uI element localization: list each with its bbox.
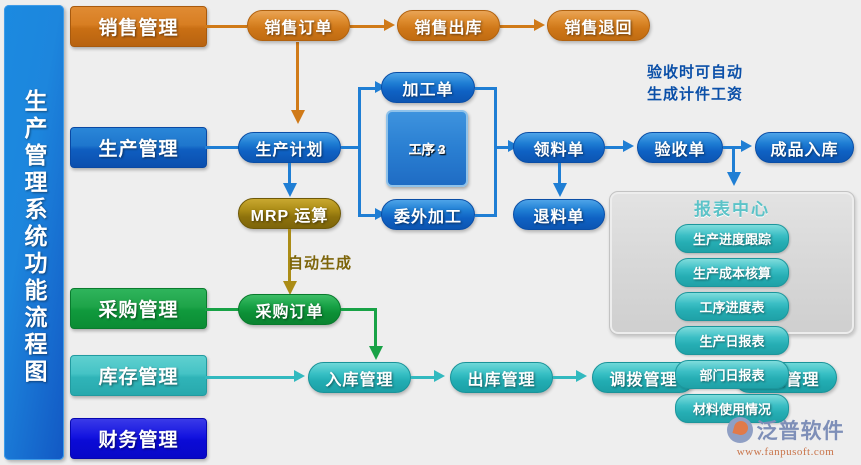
- node-mrp-calculation[interactable]: MRP 运算: [238, 198, 341, 229]
- report-button-production-daily[interactable]: 生产日报表: [675, 326, 789, 355]
- connector-branch-vertical-left: [358, 87, 361, 217]
- arrowhead-pick-to-acceptance: [623, 140, 634, 152]
- connector-outbound-to-return: [500, 25, 536, 28]
- arrowhead-purchase-order-to-inbound: [369, 346, 383, 360]
- arrowhead-stock-module-to-inbound: [294, 370, 305, 382]
- node-return-list[interactable]: 退料单: [513, 199, 605, 230]
- node-acceptance[interactable]: 验收单: [637, 132, 723, 163]
- connector-sales-module-to-order: [205, 25, 247, 28]
- annotation-acceptance-line2: 生成计件工资: [600, 84, 790, 106]
- connector-stock-module-to-inbound: [205, 376, 297, 379]
- flowchart-canvas: 生产管理系统功能流程图 销售管理 生产管理 采购管理 库存管理 财务管理 销售订…: [0, 0, 861, 465]
- diagram-title-bar: 生产管理系统功能流程图: [4, 5, 64, 460]
- connector-purchase-module-to-order: [205, 308, 240, 311]
- arrowhead-plan-to-mrp: [283, 183, 297, 197]
- process-list-box: 工序 1 工序 2 工序 3 ······: [386, 110, 468, 187]
- arrowhead-sales-order-to-plan: [291, 110, 305, 124]
- module-sales-management[interactable]: 销售管理: [70, 6, 207, 47]
- arrowhead-mrp-to-purchase-order: [283, 281, 297, 295]
- node-sales-return[interactable]: 销售退回: [547, 10, 650, 41]
- module-purchase-management[interactable]: 采购管理: [70, 288, 207, 329]
- arrowhead-acceptance-to-finished: [741, 140, 752, 152]
- report-center-title: 报表中心: [616, 196, 848, 224]
- logo-row: 泛普软件: [727, 415, 845, 445]
- node-work-order[interactable]: 加工单: [381, 72, 475, 103]
- process-line-more: ······: [412, 144, 442, 156]
- connector-purchase-order-right: [341, 308, 377, 311]
- node-sales-order[interactable]: 销售订单: [247, 10, 350, 41]
- company-url: www.fanpusoft.com: [737, 446, 835, 458]
- node-finished-goods[interactable]: 成品入库: [755, 132, 854, 163]
- report-button-process-progress[interactable]: 工序进度表: [675, 292, 789, 321]
- connector-prod-module-to-plan: [205, 146, 240, 149]
- report-button-department-daily[interactable]: 部门日报表: [675, 360, 789, 389]
- arrowhead-outbound-to-return: [534, 19, 545, 31]
- arrowhead-outbound-to-transfer: [576, 370, 587, 382]
- report-center-buttons: 生产进度跟踪 生产成本核算 工序进度表 生产日报表 部门日报表 材料使用情况: [616, 224, 848, 423]
- company-logo-icon: [727, 417, 753, 443]
- connector-merge-vertical-right: [494, 87, 497, 217]
- company-logo: 泛普软件 www.fanpusoft.com: [718, 415, 853, 460]
- label-auto-generate: 自动生成: [288, 252, 352, 273]
- arrowhead-inbound-to-outbound: [434, 370, 445, 382]
- annotation-acceptance: 验收时可自动 生成计件工资: [600, 62, 790, 106]
- module-inventory-management[interactable]: 库存管理: [70, 355, 207, 396]
- connector-order-to-outbound: [350, 25, 386, 28]
- report-button-production-cost[interactable]: 生产成本核算: [675, 258, 789, 287]
- node-outbound-management[interactable]: 出库管理: [450, 362, 553, 393]
- node-inbound-management[interactable]: 入库管理: [308, 362, 411, 393]
- module-production-management[interactable]: 生产管理: [70, 127, 207, 168]
- node-sales-outbound[interactable]: 销售出库: [397, 10, 500, 41]
- report-button-production-progress[interactable]: 生产进度跟踪: [675, 224, 789, 253]
- node-outsourcing[interactable]: 委外加工: [381, 199, 475, 230]
- node-production-plan[interactable]: 生产计划: [238, 132, 341, 163]
- arrowhead-order-to-outbound: [384, 19, 395, 31]
- connector-purchase-order-to-inbound: [374, 308, 377, 350]
- arrowhead-pick-to-return-list: [553, 183, 567, 197]
- annotation-acceptance-line1: 验收时可自动: [600, 62, 790, 84]
- arrowhead-acceptance-to-report: [727, 172, 741, 186]
- connector-sales-order-to-plan: [296, 42, 299, 118]
- node-purchase-order[interactable]: 采购订单: [238, 294, 341, 325]
- connector-inbound-to-outbound: [411, 376, 436, 379]
- company-name: 泛普软件: [757, 415, 845, 445]
- node-pick-list[interactable]: 领料单: [513, 132, 605, 163]
- module-finance-management[interactable]: 财务管理: [70, 418, 207, 459]
- connector-outbound-to-transfer: [553, 376, 578, 379]
- report-center-panel: 报表中心 生产进度跟踪 生产成本核算 工序进度表 生产日报表 部门日报表 材料使…: [609, 191, 855, 335]
